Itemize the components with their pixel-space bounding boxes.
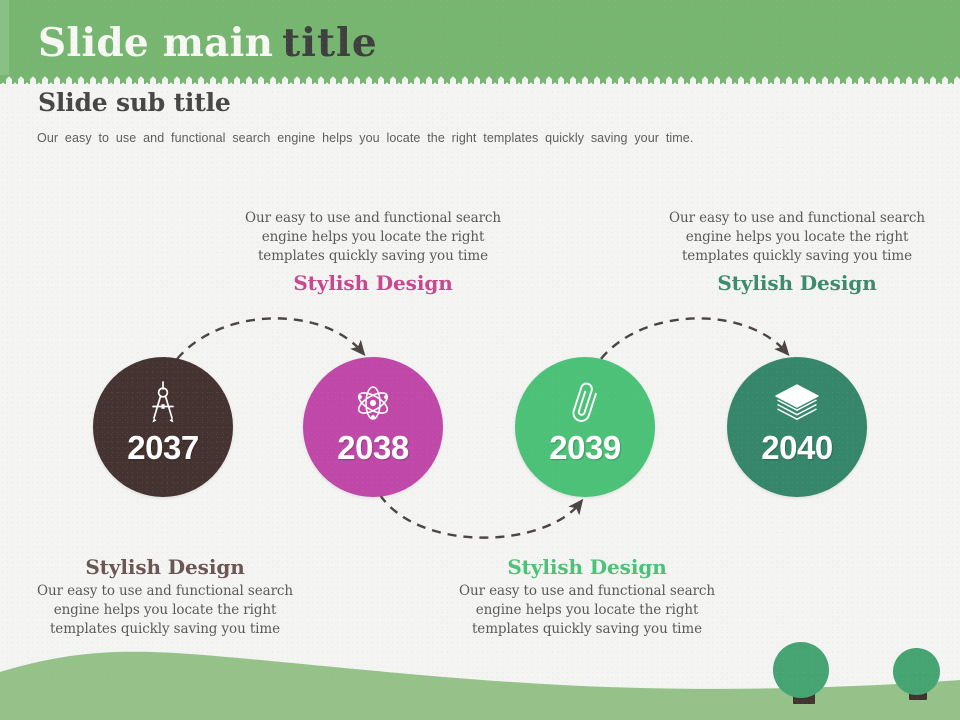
caption-heading: Stylish Design [657, 271, 937, 295]
timeline-node-year: 2037 [93, 429, 233, 467]
caption-heading: Stylish Design [25, 555, 305, 579]
caption-block-2039: Stylish Design Our easy to use and funct… [447, 555, 727, 639]
timeline-node-year: 2040 [727, 429, 867, 467]
paperclip-icon [515, 379, 655, 427]
caption-block-2040: Our easy to use and functional search en… [657, 209, 937, 295]
connector-arc-2038-2039 [380, 495, 580, 538]
caption-body: Our easy to use and functional search en… [657, 209, 937, 266]
timeline-node-year: 2039 [515, 429, 655, 467]
timeline-node-2040[interactable]: 2040 [727, 357, 867, 497]
caption-body: Our easy to use and functional search en… [25, 582, 305, 639]
timeline-node-year: 2038 [303, 429, 443, 467]
layers-stack-icon [727, 379, 867, 427]
caption-heading: Stylish Design [447, 555, 727, 579]
caption-block-2037: Stylish Design Our easy to use and funct… [25, 555, 305, 639]
caption-body: Our easy to use and functional search en… [447, 582, 727, 639]
caption-body: Our easy to use and functional search en… [233, 209, 513, 266]
timeline-node-2039[interactable]: 2039 [515, 357, 655, 497]
caption-heading: Stylish Design [233, 271, 513, 295]
slide-canvas: Slide maintitle Slide sub title Our easy… [0, 0, 960, 720]
timeline-node-2037[interactable]: 2037 [93, 357, 233, 497]
compass-divider-icon [93, 379, 233, 427]
caption-block-2038: Our easy to use and functional search en… [233, 209, 513, 295]
connector-arc-2037-2038 [168, 318, 362, 372]
connector-arc-2039-2040 [592, 318, 786, 372]
atom-icon [303, 379, 443, 427]
timeline-node-2038[interactable]: 2038 [303, 357, 443, 497]
